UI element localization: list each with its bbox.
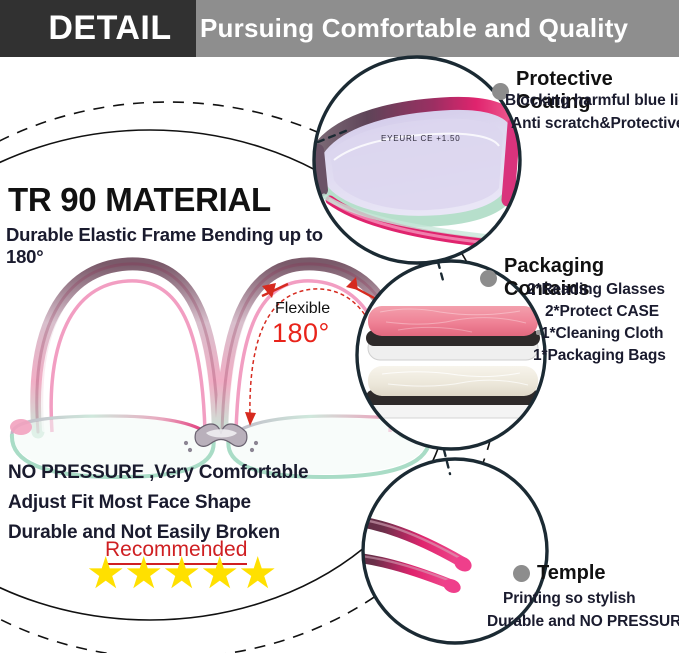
pink-case-image <box>366 306 548 360</box>
benefit-line-2: Adjust Fit Most Face Shape <box>8 492 251 514</box>
benefit-line-1: NO PRESSURE ,Very Comfortable <box>8 462 308 484</box>
svg-text:EYEURL CE +1.50: EYEURL CE +1.50 <box>381 134 461 143</box>
callout-packaging-line-1: 2*Reading Glasses <box>527 281 665 299</box>
bullet-dot-icon <box>513 565 530 582</box>
star-icon: ★ <box>86 560 122 594</box>
star-rating: ★ ★ ★ ★ ★ <box>86 560 286 590</box>
star-icon: ★ <box>162 560 198 594</box>
callout-packaging-line-4: 1*Packaging Bags <box>533 347 666 365</box>
bullet-dot-icon <box>480 270 497 287</box>
callout-protective-coating-line-1: Blocking harmful blue light <box>505 92 679 110</box>
callout-packaging-line-3: 1*Cleaning Cloth <box>541 325 663 343</box>
cream-case-image <box>366 366 548 418</box>
star-icon: ★ <box>238 560 274 594</box>
tr90-title: TR 90 MATERIAL <box>8 183 338 216</box>
flexible-degrees: 180° <box>272 318 330 349</box>
callout-title-text: Temple <box>537 562 606 585</box>
callout-protective-coating-line-2: Anti scratch&Protective <box>511 115 679 133</box>
tr90-subtitle: Durable Elastic Frame Bending up to 180° <box>6 224 356 268</box>
callout-temple-title: Temple <box>513 562 606 585</box>
detail-infographic: DETAIL Pursuing Comfortable and Quality <box>0 0 679 653</box>
flexible-label: Flexible <box>275 300 330 318</box>
callout-packaging-line-2: 2*Protect CASE <box>545 303 659 321</box>
callout-temple-line-1: Printing so stylish <box>503 590 635 608</box>
star-icon: ★ <box>200 560 236 594</box>
callout-temple-line-2: Durable and NO PRESSURE <box>487 613 679 631</box>
star-icon: ★ <box>124 560 160 594</box>
